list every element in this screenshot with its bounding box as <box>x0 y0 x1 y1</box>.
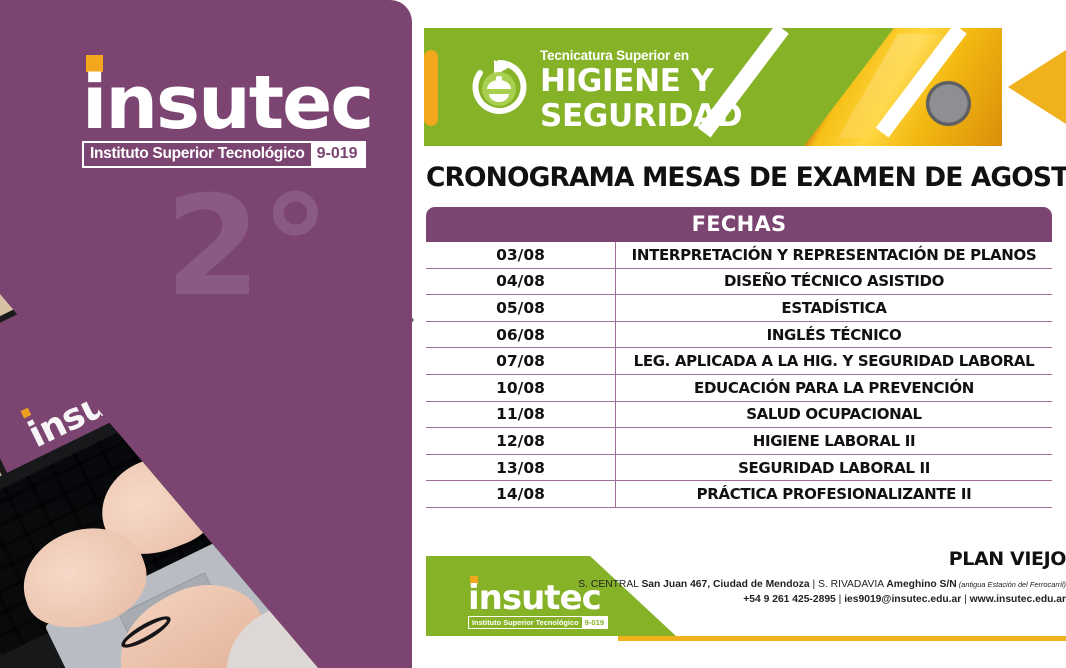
laptop-logo-dot-icon <box>21 408 32 419</box>
banner-title-line2: SEGURIDAD <box>540 100 742 133</box>
table-row: 11/08 SALUD OCUPACIONAL <box>426 402 1052 429</box>
row-date: 06/08 <box>426 322 616 348</box>
row-subject: INGLÉS TÉCNICO <box>616 326 1052 344</box>
program-banner: Tecnicatura Superior en HIGIENE Y SEGURI… <box>424 28 1066 146</box>
sidebar-logo-subtitle-box: Instituto Superior Tecnológico 9-019 <box>82 141 366 168</box>
table-row: 14/08 PRÁCTICA PROFESIONALIZANTE II <box>426 481 1052 508</box>
addr-note: (antigua Estación del Ferrocarril) <box>957 580 1066 589</box>
page-title: CRONOGRAMA MESAS DE EXAMEN DE AGOSTO 202… <box>426 162 1062 193</box>
table-row: 13/08 SEGURIDAD LABORAL II <box>426 455 1052 482</box>
banner-kicker: Tecnicatura Superior en <box>540 48 742 63</box>
row-date: 13/08 <box>426 455 616 481</box>
footer-logo-subtitle: Instituto Superior Tecnológico <box>469 617 582 628</box>
content-area: Tecnicatura Superior en HIGIENE Y SEGURI… <box>412 0 1066 668</box>
contact-info: S. CENTRAL San Juan 467, Ciudad de Mendo… <box>578 577 1066 608</box>
row-date: 07/08 <box>426 348 616 374</box>
footer-logo-code: 9-019 <box>582 617 607 628</box>
email-value[interactable]: ies9019@insutec.edu.ar <box>844 594 961 605</box>
row-date: 05/08 <box>426 295 616 321</box>
addr-central-value: San Juan 467, Ciudad de Mendoza <box>641 579 809 590</box>
plan-label: PLAN VIEJO <box>949 548 1066 570</box>
addr-separator: | S. RIVADAVIA <box>810 579 887 590</box>
table-row: 03/08 INTERPRETACIÓN Y REPRESENTACIÓN DE… <box>426 242 1052 269</box>
table-row: 07/08 LEG. APLICADA A LA HIG. Y SEGURIDA… <box>426 348 1052 375</box>
row-date: 03/08 <box>426 242 616 268</box>
row-subject: ESTADÍSTICA <box>616 299 1052 317</box>
flyer-page: 2° insutec Instituto Superior Tecnológic… <box>0 0 1066 668</box>
row-date: 12/08 <box>426 428 616 454</box>
row-subject: SEGURIDAD LABORAL II <box>616 459 1052 477</box>
footer-accent-bar <box>618 636 1066 641</box>
table-row: 06/08 INGLÉS TÉCNICO <box>426 322 1052 349</box>
sidebar-logo: insutec Instituto Superior Tecnológico 9… <box>82 55 322 168</box>
table-row: 05/08 ESTADÍSTICA <box>426 295 1052 322</box>
banner-accent-tab <box>424 50 438 126</box>
table-row: 04/08 DISEÑO TÉCNICO ASISTIDO <box>426 269 1052 296</box>
panel-arrow-notch <box>384 286 414 354</box>
footer: insutec Instituto Superior Tecnológico 9… <box>426 548 1066 656</box>
row-date: 04/08 <box>426 269 616 295</box>
row-date: 11/08 <box>426 402 616 428</box>
phone-separator: | <box>836 594 844 605</box>
email-separator: | <box>961 594 969 605</box>
contact-address-line: S. CENTRAL San Juan 467, Ciudad de Mendo… <box>578 577 1066 592</box>
row-subject: EDUCACIÓN PARA LA PREVENCIÓN <box>616 379 1052 397</box>
row-subject: SALUD OCUPACIONAL <box>616 405 1052 423</box>
footer-logo-subtitle-box: Instituto Superior Tecnológico 9-019 <box>468 616 608 629</box>
table-header-fechas: FECHAS <box>426 207 1052 242</box>
sidebar-logo-code: 9-019 <box>311 143 364 166</box>
banner-text: Tecnicatura Superior en HIGIENE Y SEGURI… <box>540 48 742 132</box>
left-purple-panel: 2° insutec Instituto Superior Tecnológic… <box>0 0 412 668</box>
website-value[interactable]: www.insutec.edu.ar <box>970 594 1066 605</box>
row-subject: PRÁCTICA PROFESIONALIZANTE II <box>616 485 1052 503</box>
row-subject: LEG. APLICADA A LA HIG. Y SEGURIDAD LABO… <box>616 352 1052 370</box>
addr-rivadavia-value: Ameghino S/N <box>886 579 956 590</box>
contact-phone-line: +54 9 261 425-2895 | ies9019@insutec.edu… <box>578 592 1066 607</box>
year-watermark: 2° <box>165 178 330 316</box>
banner-chevron-icon <box>1008 50 1066 124</box>
phone-value: +54 9 261 425-2895 <box>743 594 835 605</box>
sidebar-logo-word: insutec <box>82 75 322 133</box>
worker-helmet-recycle-icon <box>470 58 528 116</box>
exam-schedule-table: FECHAS 03/08 INTERPRETACIÓN Y REPRESENTA… <box>426 207 1052 508</box>
row-date: 14/08 <box>426 481 616 507</box>
footer-logo: insutec Instituto Superior Tecnológico 9… <box>468 576 608 629</box>
row-date: 10/08 <box>426 375 616 401</box>
row-subject: INTERPRETACIÓN Y REPRESENTACIÓN DE PLANO… <box>616 246 1052 264</box>
row-subject: DISEÑO TÉCNICO ASISTIDO <box>616 272 1052 290</box>
row-subject: HIGIENE LABORAL II <box>616 432 1052 450</box>
laptop-photo: insutec Instituto Superior Tecnológico 9… <box>0 272 348 668</box>
table-row: 10/08 EDUCACIÓN PARA LA PREVENCIÓN <box>426 375 1052 402</box>
footer-logo-word: insutec <box>468 585 608 612</box>
banner-title-line1: HIGIENE Y <box>540 65 742 98</box>
table-row: 12/08 HIGIENE LABORAL II <box>426 428 1052 455</box>
sidebar-logo-subtitle: Instituto Superior Tecnológico <box>84 143 311 166</box>
